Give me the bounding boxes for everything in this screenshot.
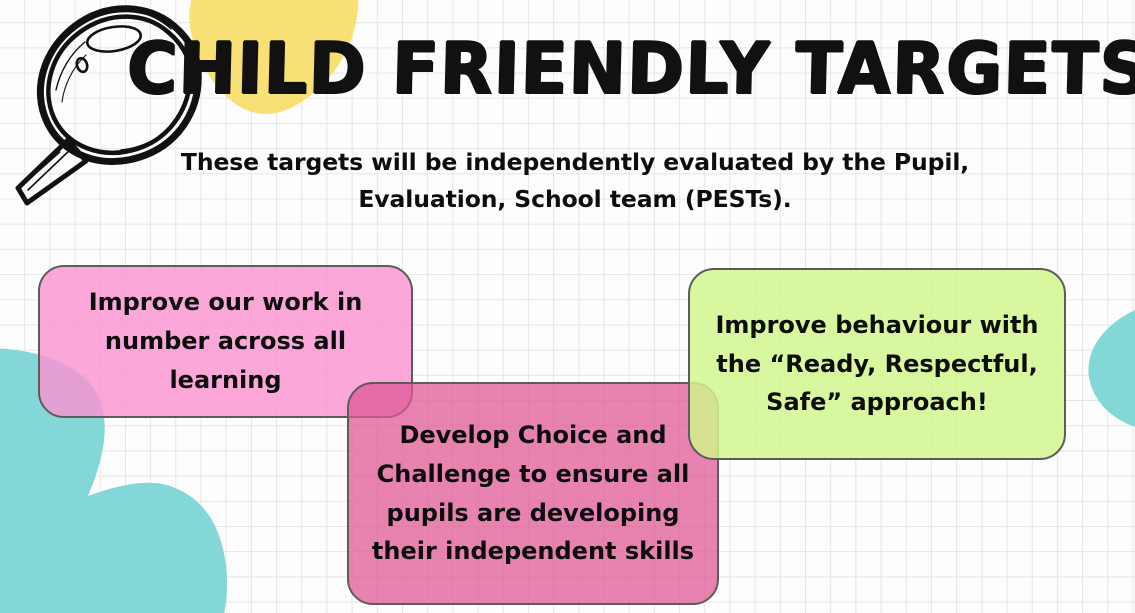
target-card-behaviour: Improve behaviour with the “Ready, Respe… xyxy=(688,268,1066,460)
target-card-number-text: Improve our work in number across all le… xyxy=(56,283,395,400)
target-card-choice-text: Develop Choice and Challenge to ensure a… xyxy=(367,416,699,572)
teal-blob-right xyxy=(1088,299,1135,432)
target-card-behaviour-text: Improve behaviour with the “Ready, Respe… xyxy=(710,306,1044,423)
page-subtitle: These targets will be independently eval… xyxy=(180,144,970,218)
page-title: CHILD FRIENDLY TARGETS xyxy=(126,33,953,104)
target-card-choice: Develop Choice and Challenge to ensure a… xyxy=(347,382,719,605)
poster-canvas: CHILD FRIENDLY TARGETS These targets wil… xyxy=(0,0,1135,613)
